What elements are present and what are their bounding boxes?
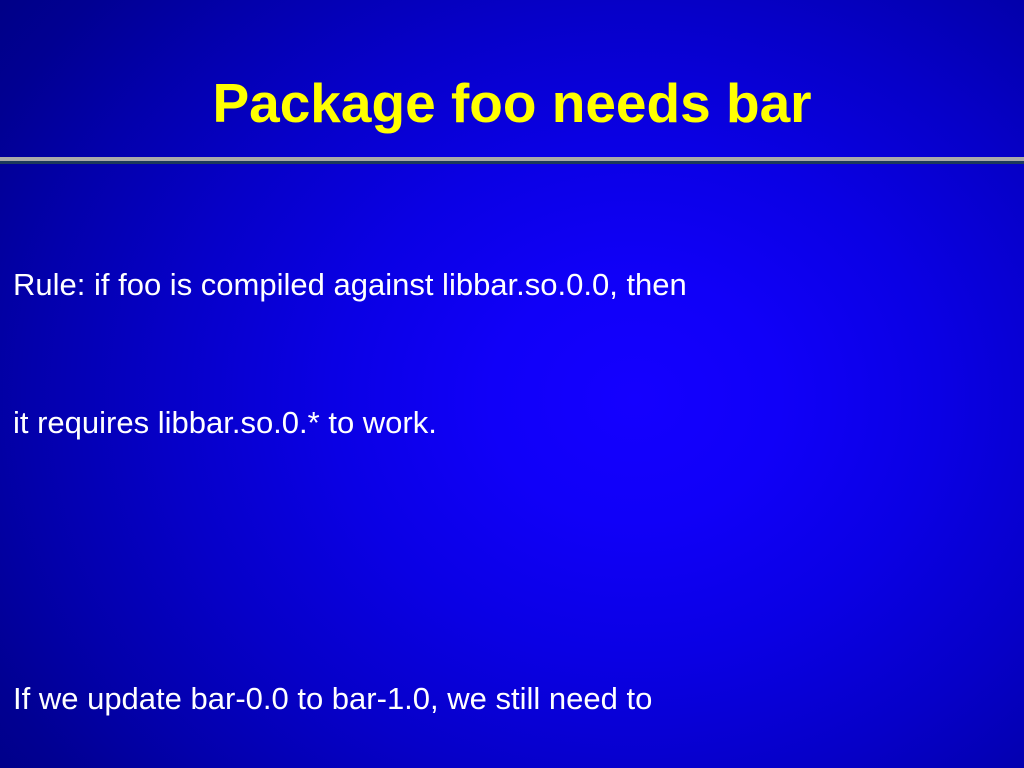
page-title: Package foo needs bar — [0, 70, 1024, 136]
paragraph-line: Rule: if foo is compiled against libbar.… — [13, 262, 1024, 308]
paragraph-line: it requires libbar.so.0.* to work. — [13, 400, 1024, 446]
slide-title-area: Package foo needs bar — [0, 0, 1024, 158]
paragraph-update: If we update bar-0.0 to bar-1.0, we stil… — [0, 584, 1024, 768]
paragraph-rule: Rule: if foo is compiled against libbar.… — [0, 170, 1024, 538]
title-divider-shadow — [0, 161, 1024, 164]
slide-body: Rule: if foo is compiled against libbar.… — [0, 170, 1024, 768]
paragraph-line: If we update bar-0.0 to bar-1.0, we stil… — [13, 676, 1024, 722]
presentation-slide: Package foo needs bar Rule: if foo is co… — [0, 0, 1024, 768]
paragraph-spacer — [0, 538, 1024, 584]
